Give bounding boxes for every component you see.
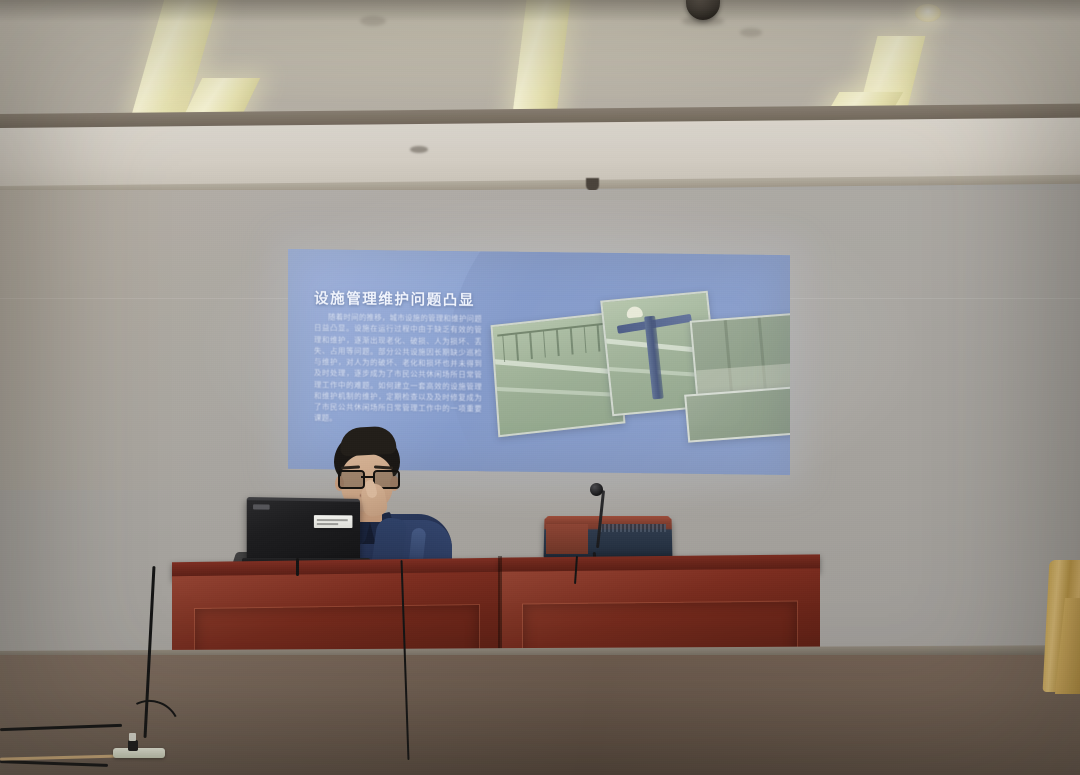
power-plug-prong [129,733,136,741]
console-left-pad [546,524,588,554]
glasses-bridge [361,476,373,478]
laptop-asset-label [314,515,353,528]
power-strip [113,748,165,758]
laptop-lid [247,497,360,563]
laptop-lid-edge [247,497,360,502]
thinkpad-logo-icon [253,504,270,509]
slide-photo-lower-art [686,388,790,440]
power-plug [128,740,138,751]
conference-photo-scene: 设施管理维护问题凸显 随着时间的推移，城市设施的管理和维护问题日益凸显。设施在运… [0,0,1080,775]
console-grille [600,524,666,532]
wall-warm-light [0,190,330,490]
microphone-icon [590,483,603,496]
laptop[interactable] [248,498,362,566]
ceiling [0,0,1080,118]
console-top-edge [546,516,670,524]
slide-body-text: 随着时间的推移，城市设施的管理和维护问题日益凸显。设施在运行过程中由于缺乏有效的… [314,311,482,426]
slide-photo-lower [684,386,790,442]
mic-console[interactable] [538,496,678,562]
slide-title: 设施管理维护问题凸显 [314,287,475,310]
ceiling-top-shadow [0,0,1080,22]
glasses-lens-left [338,470,365,489]
smoke-detector-icon [410,146,428,153]
laptop-cable [296,558,299,576]
ceiling-mark [740,28,762,37]
